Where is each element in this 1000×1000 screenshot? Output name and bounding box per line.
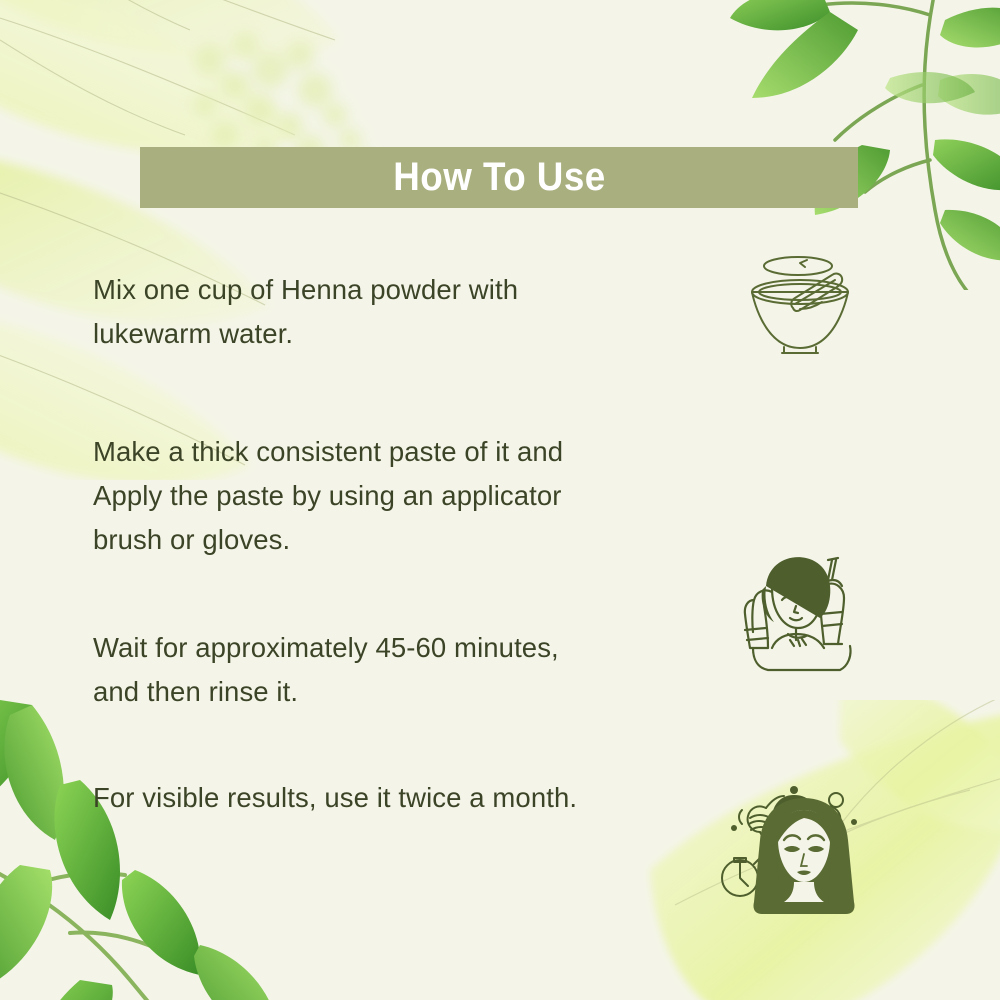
green-leaf-branch-top-right-icon bbox=[730, 0, 1000, 290]
how-to-use-poster: How To Use Mix one cup of Henna powder w… bbox=[0, 0, 1000, 1000]
list-item: Mix one cup of Henna powder with lukewar… bbox=[0, 268, 1000, 356]
woman-portrait-icon bbox=[746, 796, 862, 914]
mixing-bowl-with-spoon-icon bbox=[738, 252, 862, 356]
list-item: For visible results, use it twice a mont… bbox=[0, 776, 1000, 820]
steps-list: Mix one cup of Henna powder with lukewar… bbox=[0, 268, 1000, 888]
step-1-text: Mix one cup of Henna powder with lukewar… bbox=[93, 268, 663, 356]
page-title: How To Use bbox=[393, 155, 605, 200]
list-item: Wait for approximately 45-60 minutes, an… bbox=[0, 626, 1000, 714]
step-3-text: Wait for approximately 45-60 minutes, an… bbox=[93, 626, 663, 714]
step-2-text: Make a thick consistent paste of it and … bbox=[93, 430, 663, 562]
list-item: Make a thick consistent paste of it and … bbox=[0, 430, 1000, 562]
step-4-text: For visible results, use it twice a mont… bbox=[93, 776, 663, 820]
title-banner: How To Use bbox=[140, 147, 858, 208]
